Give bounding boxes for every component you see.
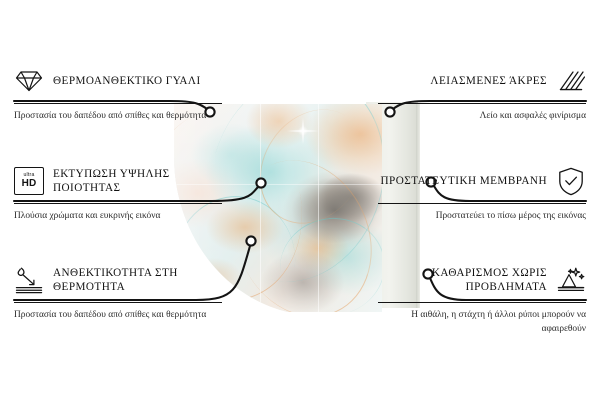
feature-description: Προστασία του δαπέδου από σπίθες και θερ…: [14, 309, 222, 323]
polished-edges-icon: [556, 66, 586, 96]
feature-description: Προστασία του δαπέδου από σπίθες και θερ…: [14, 110, 222, 124]
feature-header: ΛΕΙΑΣΜΕΝΕΣ ΆΚΡΕΣ: [378, 64, 586, 98]
feature-title: ΑΝΘΕΚΤΙΚΟΤΗΤΑ ΣΤΗ ΘΕΡΜΟΤΗΤΑ: [53, 266, 222, 294]
feature-divider: [14, 103, 222, 104]
ultra-hd-icon: ultra HD: [14, 166, 44, 196]
feature-header: ΠΡΟΣΤΑΤΕΥΤΙΚΗ ΜΕΜΒΡΑΝΗ: [378, 164, 586, 198]
feature-divider: [378, 103, 586, 104]
feature-divider: [378, 302, 586, 303]
feature-heat-resistant-glass: ΘΕΡΜΟΑΝΘΕΚΤΙΚΟ ΓΥΑΛΙ Προστασία του δαπέδ…: [14, 64, 222, 124]
feature-divider: [14, 302, 222, 303]
feature-header: ultra HD ΕΚΤΥΠΩΣΗ ΥΨΗΛΗΣ ΠΟΙΟΤΗΤΑΣ: [14, 164, 222, 198]
diamond-icon: [14, 66, 44, 96]
feature-divider: [378, 203, 586, 204]
ultra-hd-icon-main-label: HD: [22, 179, 37, 189]
feature-title: ΕΚΤΥΠΩΣΗ ΥΨΗΛΗΣ ΠΟΙΟΤΗΤΑΣ: [53, 167, 222, 195]
feature-high-quality-print: ultra HD ΕΚΤΥΠΩΣΗ ΥΨΗΛΗΣ ΠΟΙΟΤΗΤΑΣ Πλούσ…: [14, 164, 222, 224]
feature-title: ΛΕΙΑΣΜΕΝΕΣ ΆΚΡΕΣ: [430, 74, 547, 88]
shield-check-icon: [556, 166, 586, 196]
feature-title: ΠΡΟΣΤΑΤΕΥΤΙΚΗ ΜΕΜΒΡΑΝΗ: [381, 174, 547, 188]
feature-description: Η αιθάλη, η στάχτη ή άλλοι ρύποι μπορούν…: [378, 309, 586, 336]
feature-header: ΑΝΘΕΚΤΙΚΟΤΗΤΑ ΣΤΗ ΘΕΡΜΟΤΗΤΑ: [14, 263, 222, 297]
easy-clean-icon: [556, 265, 586, 295]
heat-resistance-icon: [14, 265, 44, 295]
feature-polished-edges: ΛΕΙΑΣΜΕΝΕΣ ΆΚΡΕΣ Λείο και ασφαλές φινίρι…: [378, 64, 586, 124]
feature-title: ΘΕΡΜΟΑΝΘΕΚΤΙΚΟ ΓΥΑΛΙ: [53, 74, 201, 88]
feature-description: Προστατεύει το πίσω μέρος της εικόνας: [378, 210, 586, 224]
feature-easy-cleaning: ΚΑΘΑΡΙΣΜΟΣ ΧΩΡΙΣ ΠΡΟΒΛΗΜΑΤΑ Η αιθάλη, η …: [378, 263, 586, 336]
feature-protective-film: ΠΡΟΣΤΑΤΕΥΤΙΚΗ ΜΕΜΒΡΑΝΗ Προστατεύει το πί…: [378, 164, 586, 224]
feature-heat-resistance: ΑΝΘΕΚΤΙΚΟΤΗΤΑ ΣΤΗ ΘΕΡΜΟΤΗΤΑ Προστασία το…: [14, 263, 222, 323]
feature-header: ΘΕΡΜΟΑΝΘΕΚΤΙΚΟ ΓΥΑΛΙ: [14, 64, 222, 98]
feature-title: ΚΑΘΑΡΙΣΜΟΣ ΧΩΡΙΣ ΠΡΟΒΛΗΜΑΤΑ: [378, 266, 547, 294]
feature-divider: [14, 203, 222, 204]
feature-header: ΚΑΘΑΡΙΣΜΟΣ ΧΩΡΙΣ ΠΡΟΒΛΗΜΑΤΑ: [378, 263, 586, 297]
feature-description: Λείο και ασφαλές φινίρισμα: [378, 110, 586, 124]
feature-description: Πλούσια χρώματα και ευκρινής εικόνα: [14, 210, 222, 224]
